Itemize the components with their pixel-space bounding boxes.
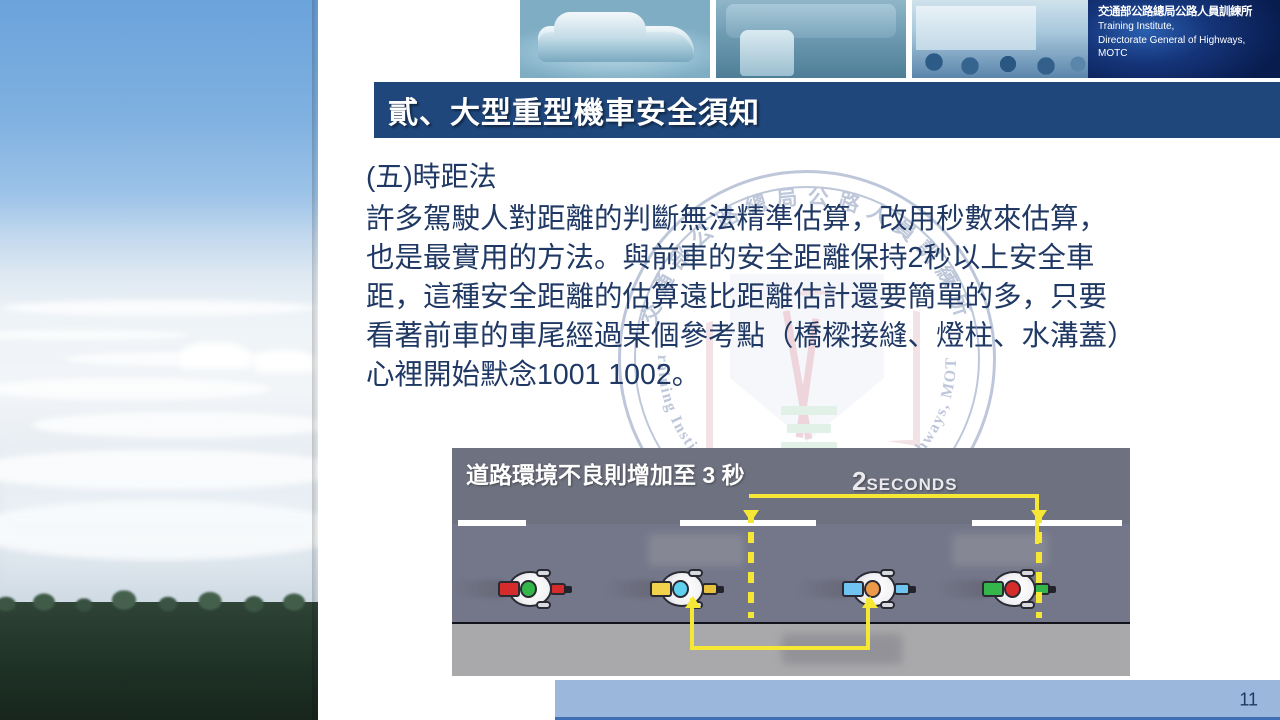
taxi-photo	[520, 0, 710, 78]
seconds-unit: SECONDS	[866, 475, 957, 494]
arrow-down-icon	[743, 510, 759, 522]
institute-name-en-3: MOTC	[1098, 48, 1272, 60]
arrow-up-icon	[685, 596, 701, 608]
seconds-label: 2SECONDS	[852, 466, 958, 497]
slide-root: 交通部公路總局公路人員訓練所 Training Institute, Direc…	[0, 0, 1280, 720]
body-line-1: 許多駕駛人對距離的判斷無法精準估算，改用秒數來估算，	[366, 200, 1256, 239]
page-title: 貳、大型重型機車安全須知	[388, 88, 760, 132]
body-line-4: 看著前車的車尾經過某個參考點（橋樑接縫、燈柱、水溝蓋）	[366, 317, 1256, 356]
slide-footer: 11	[555, 680, 1280, 720]
motorcycle-1	[496, 566, 570, 612]
diagram-caption: 道路環境不良則增加至 3 秒	[466, 456, 745, 490]
seconds-number: 2	[852, 466, 866, 496]
body-line-5: 心裡開始默念1001 1002。	[366, 356, 1256, 395]
body-line-3: 距，這種安全距離的估算遠比距離估計還要簡單的多，只要	[366, 278, 1256, 317]
arrow-up-icon	[862, 596, 878, 608]
body-line-2: 也是最實用的方法。與前車的安全距離保持2秒以上安全車	[366, 239, 1256, 278]
arrow-down-icon	[1031, 510, 1047, 522]
lane-dash	[972, 520, 1122, 526]
crash-photo	[716, 0, 906, 78]
motorcycle-4	[980, 566, 1054, 612]
institute-name-en-1: Training Institute,	[1098, 21, 1272, 33]
treeline	[0, 602, 318, 720]
left-background-photo	[0, 0, 318, 720]
slide-content: 交通部公路總局公路人員訓練所 Training Institute, Direc…	[318, 138, 1280, 720]
institute-logo: 交通部公路總局公路人員訓練所 Training Institute, Direc…	[1088, 0, 1280, 78]
banner-photo-strip	[520, 0, 1098, 78]
section-heading: (五)時距法	[366, 160, 497, 194]
top-banner: 交通部公路總局公路人員訓練所 Training Institute, Direc…	[318, 0, 1280, 82]
two-second-rule-diagram: 道路環境不良則增加至 3 秒 2SECONDS	[452, 448, 1130, 676]
institute-name-en-2: Directorate General of Highways,	[1098, 35, 1272, 47]
reference-point-dashed-line	[1036, 512, 1042, 618]
institute-name-zh: 交通部公路總局公路人員訓練所	[1098, 5, 1272, 19]
page-number: 11	[1239, 690, 1258, 711]
lane-dash	[458, 520, 526, 526]
measure-line-bottom	[690, 646, 870, 650]
reference-point-dashed-line	[748, 512, 754, 618]
slide-title-bar: 貳、大型重型機車安全須知	[318, 82, 1280, 138]
title-accent-block	[318, 82, 374, 138]
measure-line-top	[749, 494, 1039, 498]
classroom-photo	[912, 0, 1098, 78]
body-paragraph: 許多駕駛人對距離的判斷無法精準估算，改用秒數來估算， 也是最實用的方法。與前車的…	[366, 200, 1256, 395]
